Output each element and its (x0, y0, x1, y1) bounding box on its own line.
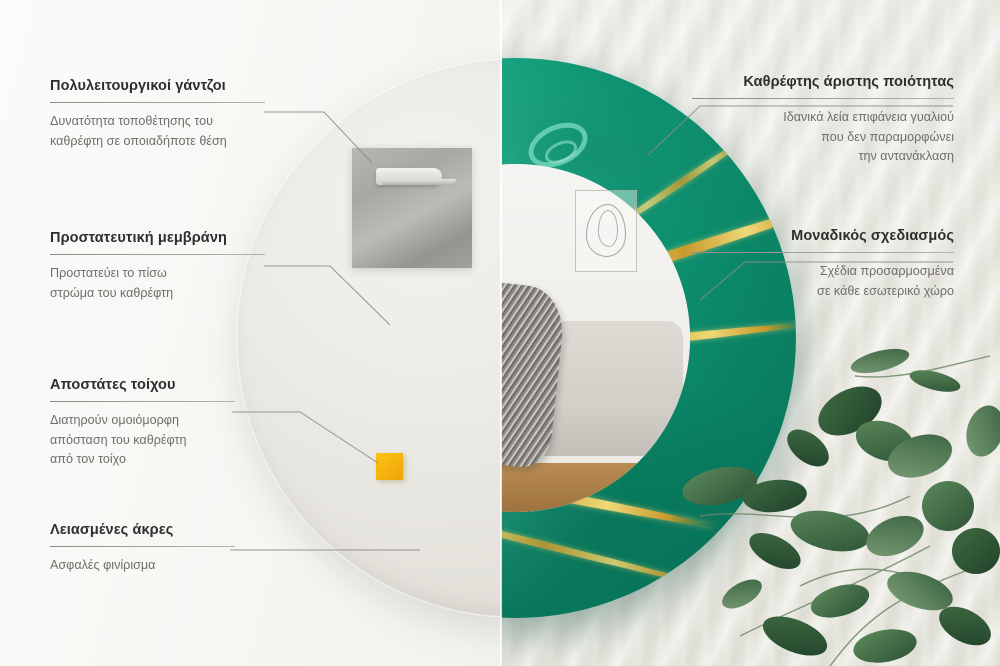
callout-multifunctional-hooks: Πολυλειτουργικοί γάντζοι Δυνατότητα τοπο… (50, 78, 265, 151)
callout-rule (692, 252, 954, 253)
callout-description: Διατηρούν ομοιόμορφη απόσταση του καθρέφ… (50, 411, 235, 468)
callout-top-quality-mirror: Καθρέφτης άριστης ποιότητας Ιδανικά λεία… (692, 74, 954, 166)
callout-protective-membrane: Προστατευτική μεμβράνη Προστατεύει το πί… (50, 230, 265, 303)
callout-rule (692, 98, 954, 99)
callout-description: Ιδανικά λεία επιφάνεια γυαλιού που δεν π… (692, 108, 954, 165)
callout-rule (50, 401, 235, 402)
foliage-decoration (680, 336, 1000, 666)
callout-title: Καθρέφτης άριστης ποιότητας (692, 74, 954, 91)
reflected-wood-floor (501, 463, 690, 512)
callout-title: Προστατευτική μεμβράνη (50, 230, 265, 247)
mounting-hook-plate (352, 148, 472, 268)
callout-description: Ασφαλές φινίρισμα (50, 556, 235, 575)
wall-art-frame-icon (575, 190, 637, 272)
callout-description: Σχέδια προσαρμοσμένα σε κάθε εσωτερικό χ… (692, 262, 954, 300)
callout-title: Λειασμένες άκρες (50, 522, 235, 539)
callout-rule (50, 254, 265, 255)
callout-title: Μοναδικός σχεδιασμός (692, 228, 954, 245)
line-art-shape-inner (598, 210, 618, 247)
callout-title: Αποστάτες τοίχου (50, 377, 235, 394)
panel-divider (500, 0, 502, 666)
wall-spacer-block (376, 453, 403, 480)
callout-description: Προστατεύει το πίσω στρώμα του καθρέφτη (50, 264, 265, 302)
callout-title: Πολυλειτουργικοί γάντζοι (50, 78, 265, 95)
hook-icon (376, 168, 442, 185)
callout-description: Δυνατότητα τοποθέτησης του καθρέφτη σε ο… (50, 112, 265, 150)
callout-unique-design: Μοναδικός σχεδιασμός Σχέδια προσαρμοσμέν… (692, 228, 954, 301)
callout-smoothed-edges: Λειασμένες άκρες Ασφαλές φινίρισμα (50, 522, 235, 576)
callout-rule (50, 102, 265, 103)
callout-rule (50, 546, 235, 547)
callout-wall-spacers: Αποστάτες τοίχου Διατηρούν ομοιόμορφη απ… (50, 377, 235, 469)
infographic-canvas: Πολυλειτουργικοί γάντζοι Δυνατότητα τοπο… (0, 0, 1000, 666)
